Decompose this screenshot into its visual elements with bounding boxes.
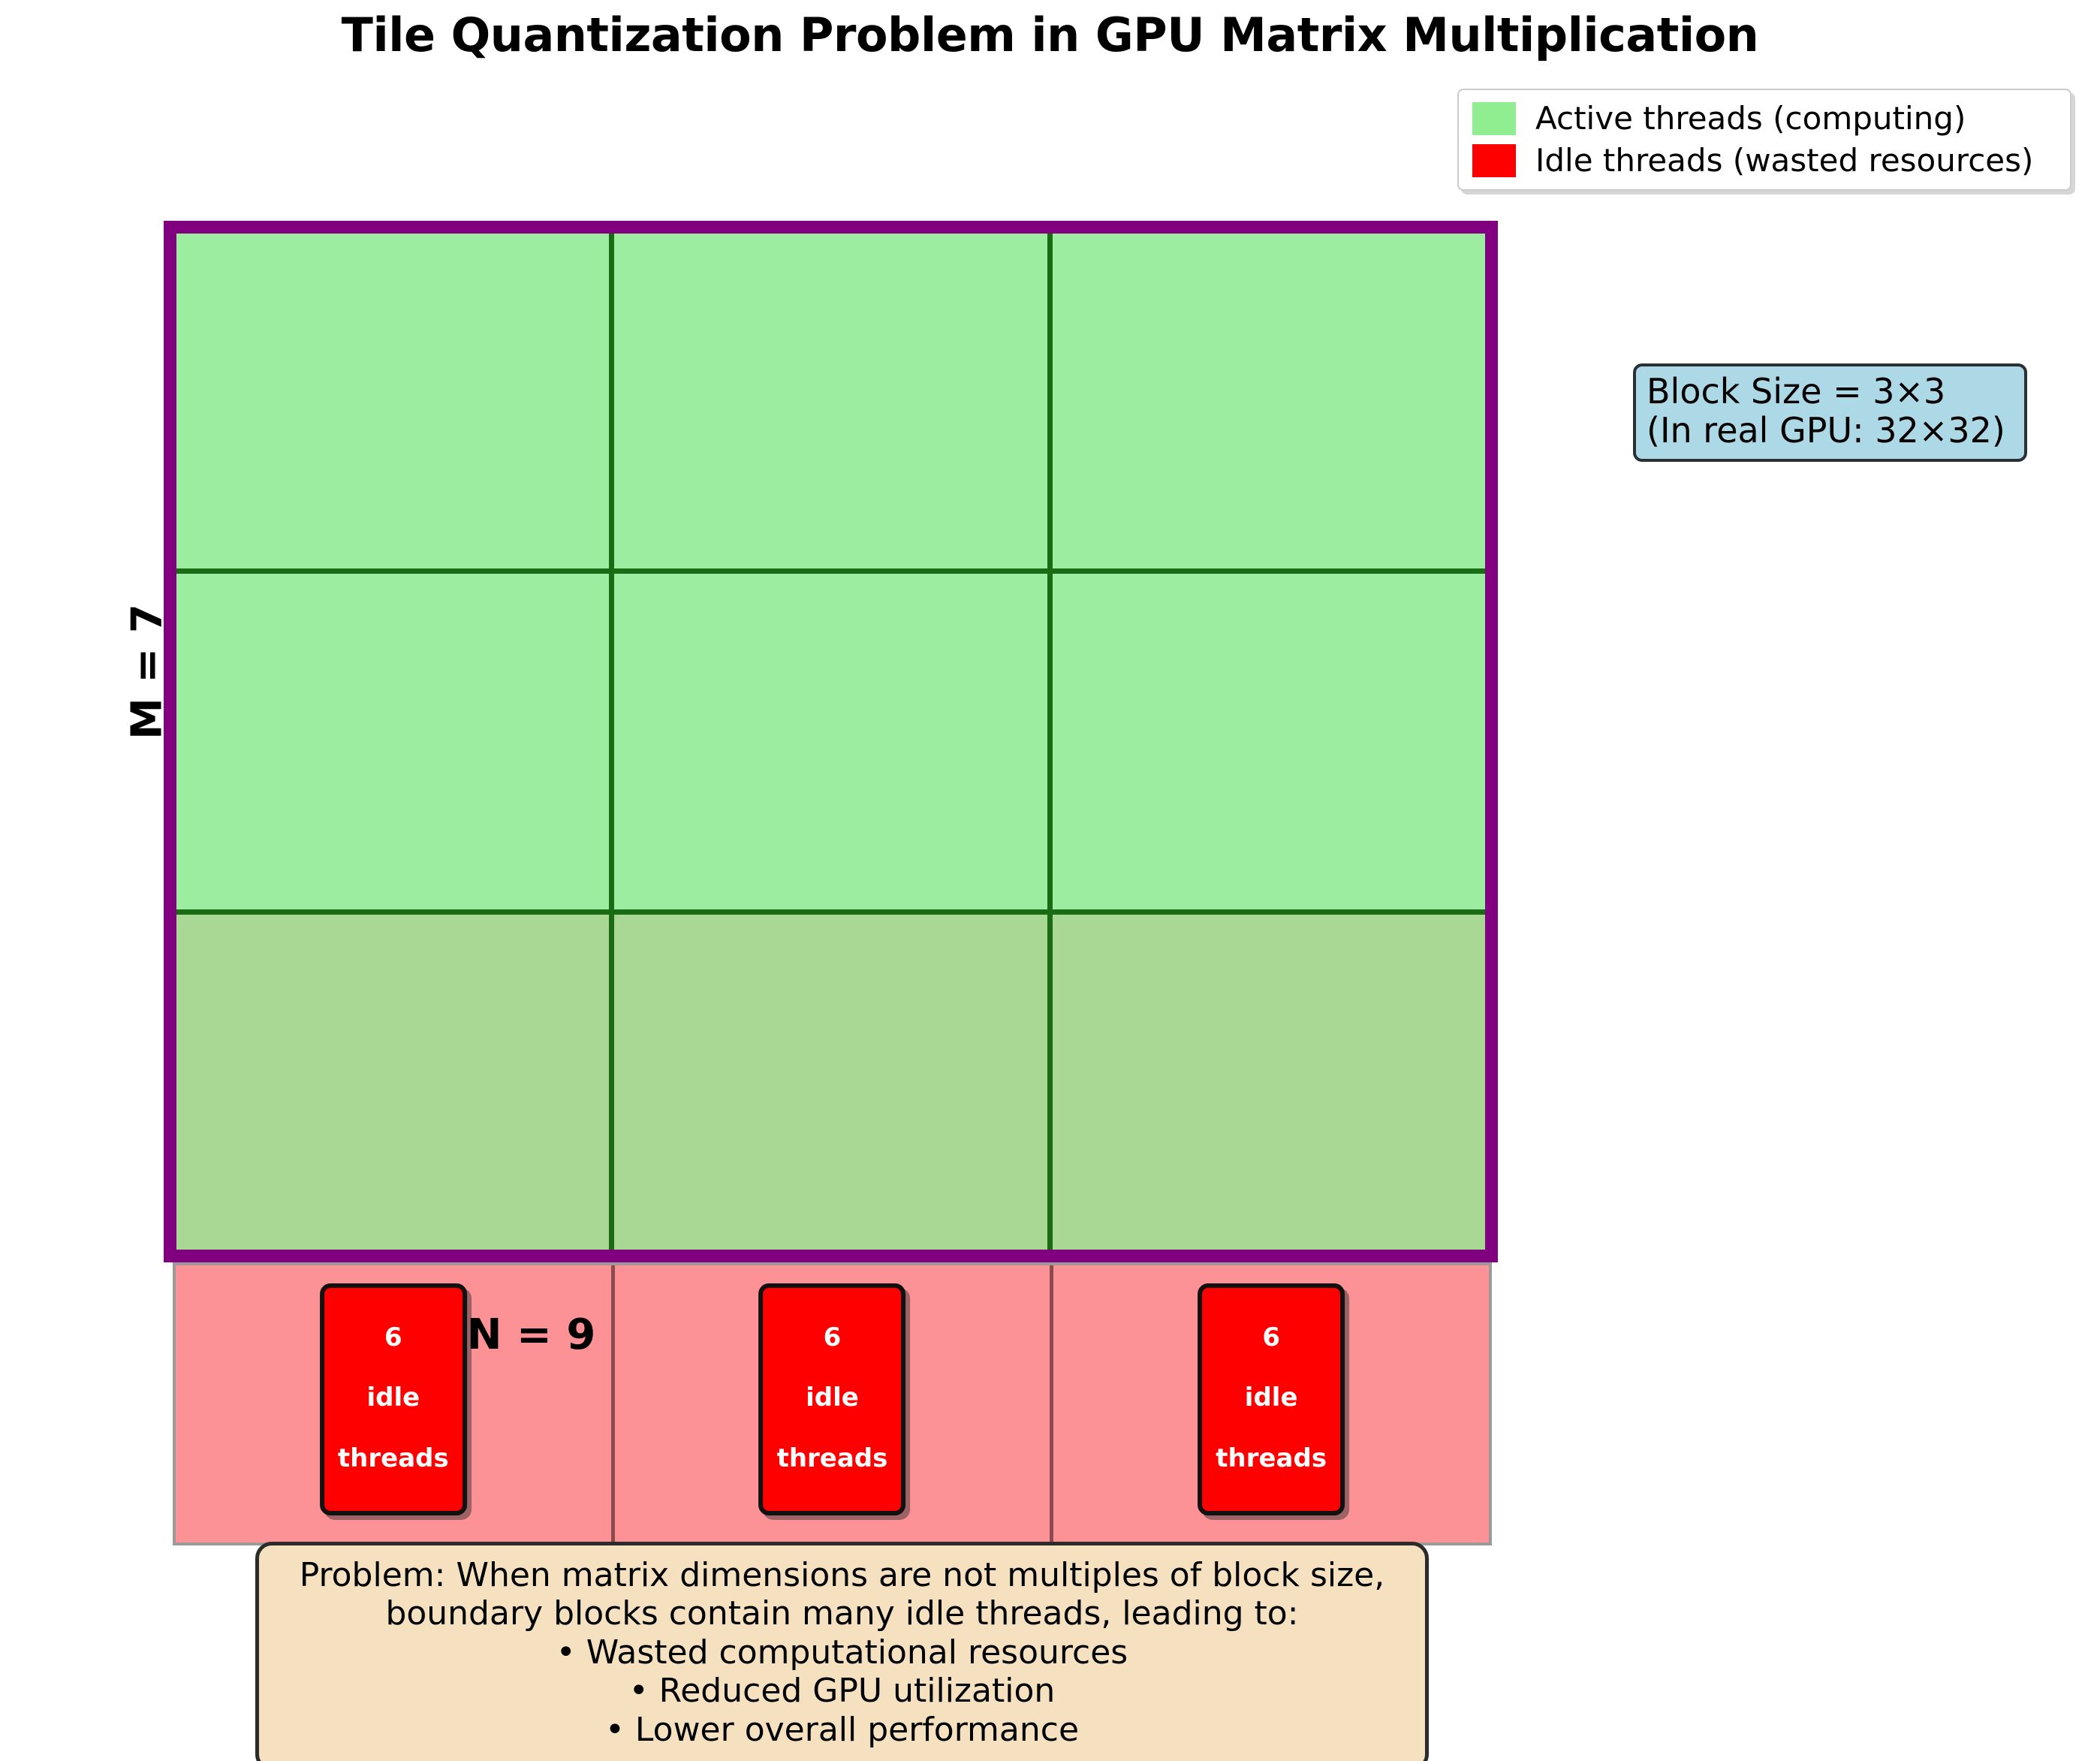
idle-threads-swatch (1472, 144, 1516, 177)
idle-badge-line-3: threads (1216, 1443, 1327, 1473)
legend-item-active: Active threads (computing) (1472, 98, 2058, 140)
idle-block: 6 idle threads (176, 1265, 611, 1542)
problem-description-box: Problem: When matrix dimensions are not … (255, 1542, 1429, 1761)
problem-line-5: • Lower overall performance (279, 1711, 1406, 1749)
matrix-tile-partial (176, 915, 609, 1250)
idle-badge: 6 idle threads (1198, 1283, 1345, 1515)
matrix-tile (176, 234, 609, 568)
legend-item-idle: Idle threads (wasted resources) (1472, 140, 2058, 182)
matrix-tile (1053, 574, 1485, 909)
idle-badge: 6 idle threads (320, 1283, 467, 1515)
active-threads-swatch (1472, 102, 1516, 135)
matrix-block-grid (176, 234, 1485, 1250)
problem-line-2: boundary blocks contain many idle thread… (279, 1594, 1406, 1633)
idle-badge-line-2: idle (1216, 1383, 1327, 1413)
page-title: Tile Quantization Problem in GPU Matrix … (0, 8, 2100, 62)
idle-badge-line-3: threads (777, 1443, 888, 1473)
idle-badge-line-3: threads (338, 1443, 449, 1473)
block-size-annotation: Block Size = 3×3 (In real GPU: 32×32) (1633, 363, 2027, 462)
legend-label-active: Active threads (computing) (1535, 103, 1966, 134)
idle-badge-count: 6 (777, 1322, 888, 1352)
matrix-tile-partial (1053, 915, 1485, 1250)
idle-badge-count: 6 (338, 1322, 449, 1352)
figure-canvas: Tile Quantization Problem in GPU Matrix … (0, 0, 2100, 1761)
block-size-line-2: (In real GPU: 32×32) (1647, 412, 2014, 451)
legend-label-idle: Idle threads (wasted resources) (1535, 145, 2033, 176)
idle-block-grid: 6 idle threads 6 idle threads 6 idle thr… (176, 1265, 1489, 1542)
problem-line-4: • Reduced GPU utilization (279, 1672, 1406, 1710)
idle-badge-line-2: idle (777, 1383, 888, 1413)
idle-block: 6 idle threads (1053, 1265, 1489, 1542)
matrix-tile (614, 574, 1047, 909)
idle-badge-line-2: idle (338, 1383, 449, 1413)
matrix-boundary (164, 221, 1498, 1262)
block-size-line-1: Block Size = 3×3 (1647, 372, 2014, 412)
idle-block: 6 idle threads (615, 1265, 1050, 1542)
idle-badge-count: 6 (1216, 1322, 1327, 1352)
matrix-tile (1053, 234, 1485, 568)
matrix-tile (614, 234, 1047, 568)
idle-threads-region: 6 idle threads 6 idle threads 6 idle thr… (173, 1262, 1492, 1545)
legend: Active threads (computing) Idle threads … (1457, 89, 2071, 191)
matrix-tile-partial (614, 915, 1047, 1250)
problem-line-1: Problem: When matrix dimensions are not … (279, 1556, 1406, 1594)
problem-line-3: • Wasted computational resources (279, 1633, 1406, 1672)
idle-badge: 6 idle threads (759, 1283, 906, 1515)
matrix-tile (176, 574, 609, 909)
